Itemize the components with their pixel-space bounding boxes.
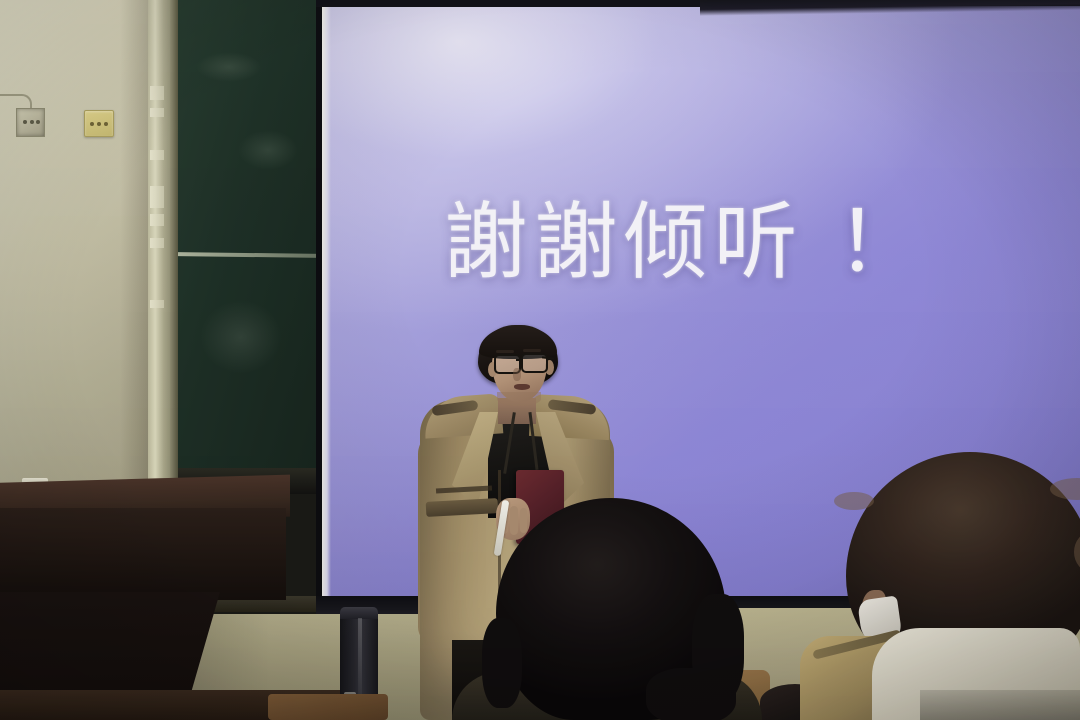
speaker-eyebrow-right: [523, 349, 541, 352]
screen-left-edge-highlight: [322, 0, 331, 600]
speaker-mouth: [514, 384, 530, 390]
classroom-photo: 謝謝倾听 ！: [0, 0, 1080, 720]
speaker-eyebrow-left: [496, 350, 514, 353]
audience-front-right-shadow: [920, 690, 1080, 720]
slide-headline-text: 謝謝倾听 ！: [0, 198, 1080, 286]
speaker-glasses-bridge: [516, 359, 523, 361]
wall-switch-plate-icon[interactable]: [84, 110, 114, 137]
speaker-nose: [513, 368, 521, 381]
podium-body: [0, 508, 286, 600]
chair-back-lower-left: [268, 694, 388, 720]
audience-front-left-hair: [496, 498, 726, 720]
speaker-chin-shadow: [497, 392, 541, 406]
screen-top-bezel-left: [316, 0, 716, 7]
electrical-junction-box-icon: [16, 108, 45, 137]
